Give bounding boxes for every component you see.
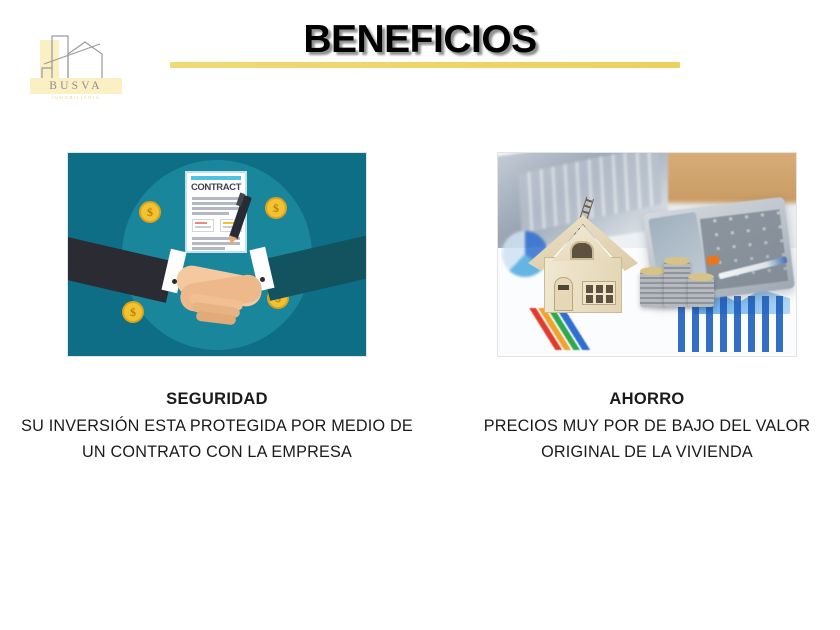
slide-header: BUSVA INMOBILIARIA BENEFICIOS xyxy=(0,0,840,120)
caption-ahorro: AHORRO PRECIOS MUY POR DE BAJO DEL VALOR… xyxy=(450,388,840,465)
contract-label: CONTRACT xyxy=(187,182,245,193)
wooden-model-house xyxy=(530,197,636,313)
cuff-button xyxy=(172,279,177,284)
document-text-line xyxy=(192,247,225,250)
coin-stack xyxy=(688,277,714,307)
house-door xyxy=(554,277,573,311)
benefit-card-seguridad: $ $ $ $ CONTRACT xyxy=(67,152,367,357)
colored-chart-on-paper xyxy=(506,308,592,350)
caption-seguridad: SEGURIDAD SU INVERSIÓN ESTA PROTEGIDA PO… xyxy=(20,388,414,465)
seguridad-image: $ $ $ $ CONTRACT xyxy=(67,152,367,357)
house-attic-window xyxy=(570,241,594,260)
cuff-button xyxy=(260,277,265,282)
dollar-coin-icon: $ xyxy=(139,201,161,223)
dollar-coin-icon: $ xyxy=(122,301,144,323)
logo-subtitle: INMOBILIARIA xyxy=(22,95,130,100)
caption-title: SEGURIDAD xyxy=(20,388,414,410)
handshake-contract-illustration: $ $ $ $ CONTRACT xyxy=(68,153,366,356)
coin-stack xyxy=(664,261,690,307)
document-header-bar xyxy=(191,176,241,180)
model-house-coins-calculator-photo xyxy=(498,153,796,356)
slide: BUSVA INMOBILIARIA BENEFICIOS $ $ $ $ CO… xyxy=(0,0,840,630)
ahorro-image xyxy=(497,152,797,357)
document-field-box xyxy=(192,219,214,232)
benefit-card-ahorro xyxy=(497,152,797,357)
document-text-line xyxy=(192,202,240,205)
title-underline-rule xyxy=(170,62,680,68)
caption-title: AHORRO xyxy=(450,388,840,410)
coin-stacks xyxy=(640,251,714,307)
logo-name: BUSVA xyxy=(22,80,130,92)
caption-body: SU INVERSIÓN ESTA PROTEGIDA POR MEDIO DE… xyxy=(20,413,414,465)
document-text-line xyxy=(192,197,240,200)
document-text-line xyxy=(192,212,229,215)
dollar-coin-icon: $ xyxy=(265,197,287,219)
coin-stack xyxy=(640,271,666,307)
house-window xyxy=(582,281,616,305)
document-text-line xyxy=(192,207,240,210)
caption-body: PRECIOS MUY POR DE BAJO DEL VALOR ORIGIN… xyxy=(450,413,840,465)
page-title: BENEFICIOS xyxy=(0,18,840,62)
